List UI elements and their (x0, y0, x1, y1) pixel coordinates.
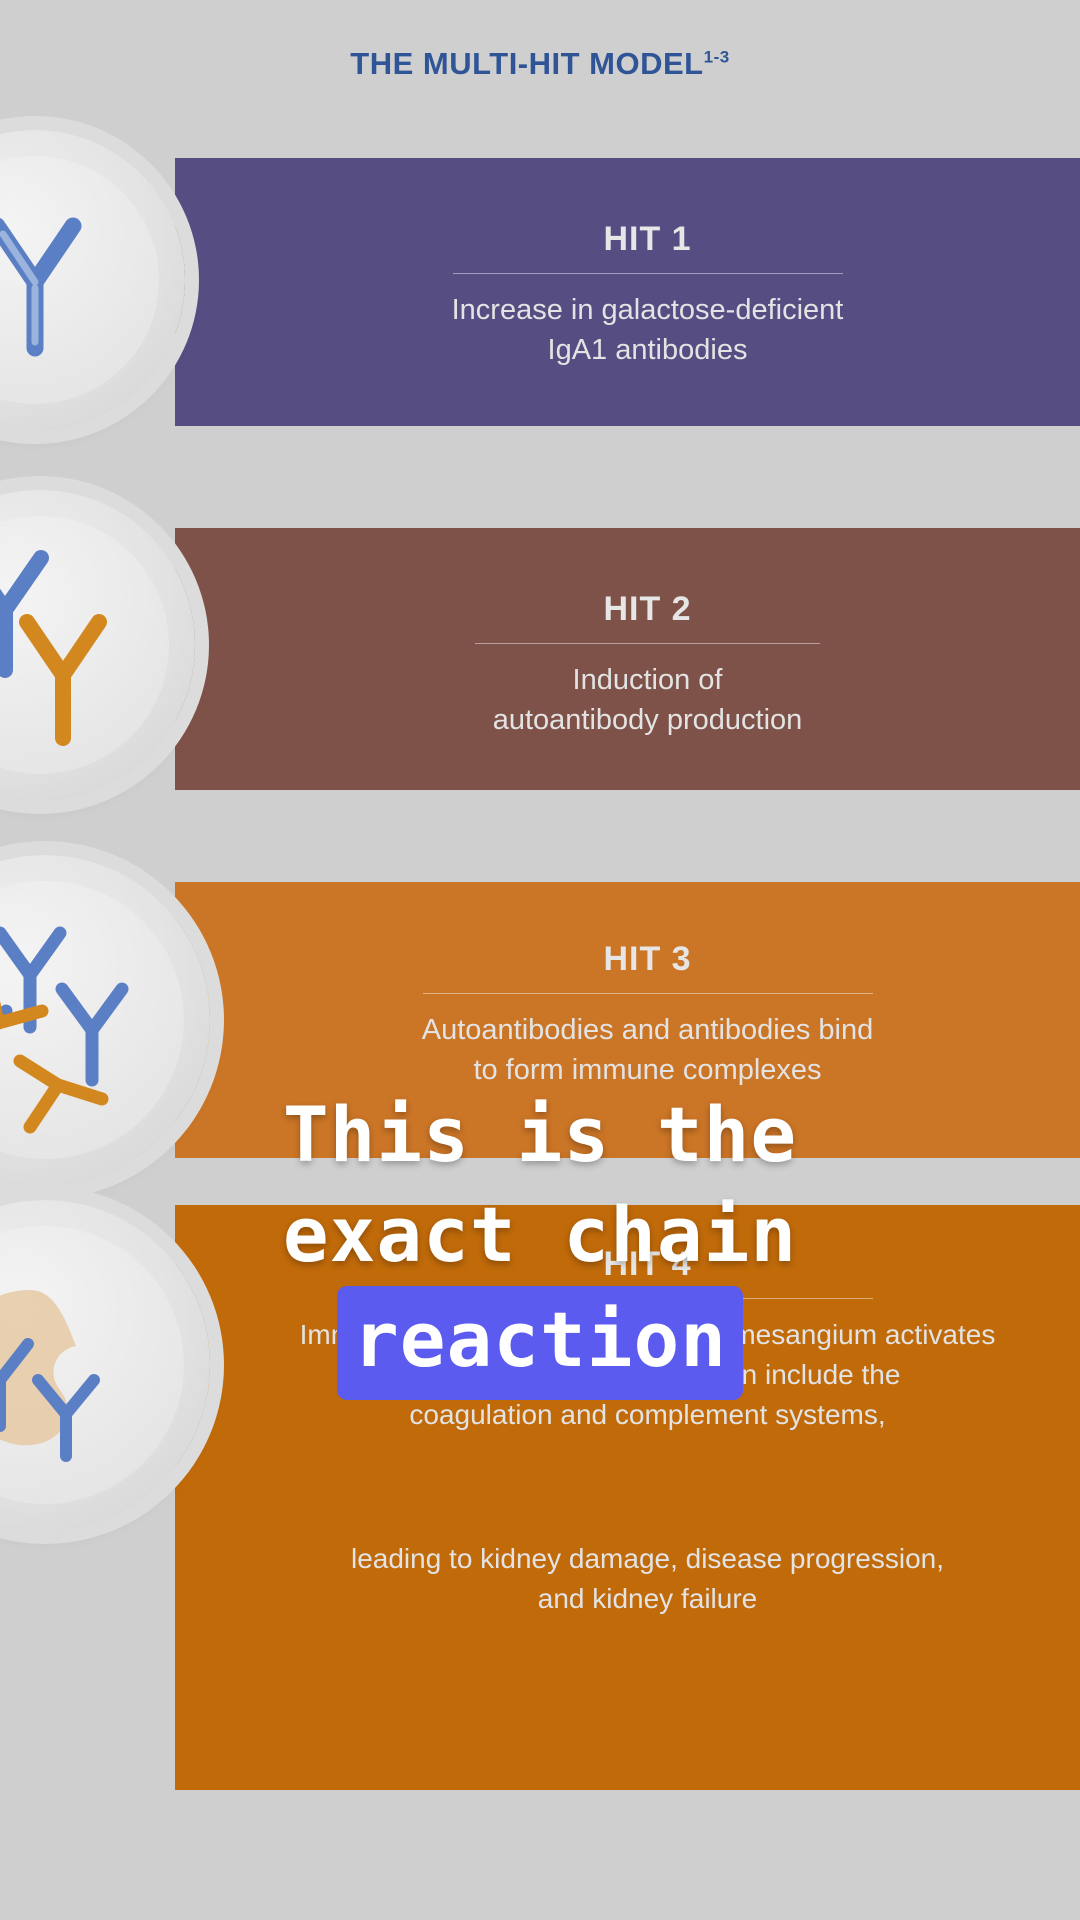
hit-1-description-line-2: IgA1 antibodies (548, 334, 748, 366)
hit-3-label: HIT 3 (175, 940, 1080, 979)
hit-band-1: HIT 1 Increase in galactose-deficient Ig… (175, 158, 1080, 426)
two-antibodies-icon (0, 490, 195, 800)
hit-4-description-line-5: and kidney failure (538, 1583, 757, 1614)
hit-1-icon-medallion (0, 130, 185, 430)
hit-2-divider (475, 643, 820, 644)
caption-line-3-highlighted: reaction (337, 1286, 743, 1400)
hit-1-label: HIT 1 (175, 220, 1080, 259)
hit-1-description-line-1: Increase in galactose-deficient (452, 294, 844, 326)
caption-line-2: exact chain (0, 1185, 1080, 1285)
video-caption-overlay: This is the exact chain reaction (0, 1085, 1080, 1400)
page-title-superscript: 1-3 (704, 48, 730, 67)
hit-3-description: Autoantibodies and antibodies bind to fo… (175, 1010, 1080, 1090)
hit-band-4-continuation: leading to kidney damage, disease progre… (175, 1535, 1080, 1790)
hit-4-description-line-4: leading to kidney damage, disease progre… (351, 1543, 944, 1574)
hit-1-description: Increase in galactose-deficient IgA1 ant… (175, 290, 1080, 370)
single-antibody-icon (0, 130, 185, 430)
hit-2-description-line-1: Induction of (573, 664, 723, 696)
hit-3-description-line-1: Autoantibodies and antibodies bind (422, 1014, 873, 1046)
hit-3-description-line-2: to form immune complexes (473, 1054, 821, 1086)
hit-4-description-tail: leading to kidney damage, disease progre… (175, 1535, 1080, 1619)
caption-line-1: This is the (0, 1085, 1080, 1185)
hit-3-divider (423, 993, 873, 994)
page-title: THE MULTI-HIT MODEL1-3 (0, 46, 1080, 82)
hit-2-icon-medallion (0, 490, 195, 800)
hit-1-divider (453, 273, 843, 274)
page-title-text: THE MULTI-HIT MODEL (350, 46, 703, 81)
hit-2-label: HIT 2 (175, 590, 1080, 629)
hit-2-description-line-2: autoantibody production (493, 704, 803, 736)
infographic-slide: THE MULTI-HIT MODEL1-3 HIT 1 Increase in… (0, 0, 1080, 1920)
hit-band-2: HIT 2 Induction of autoantibody producti… (175, 528, 1080, 790)
hit-2-description: Induction of autoantibody production (175, 660, 1080, 740)
hit-4-description-line-3: coagulation and complement systems, (409, 1399, 885, 1430)
